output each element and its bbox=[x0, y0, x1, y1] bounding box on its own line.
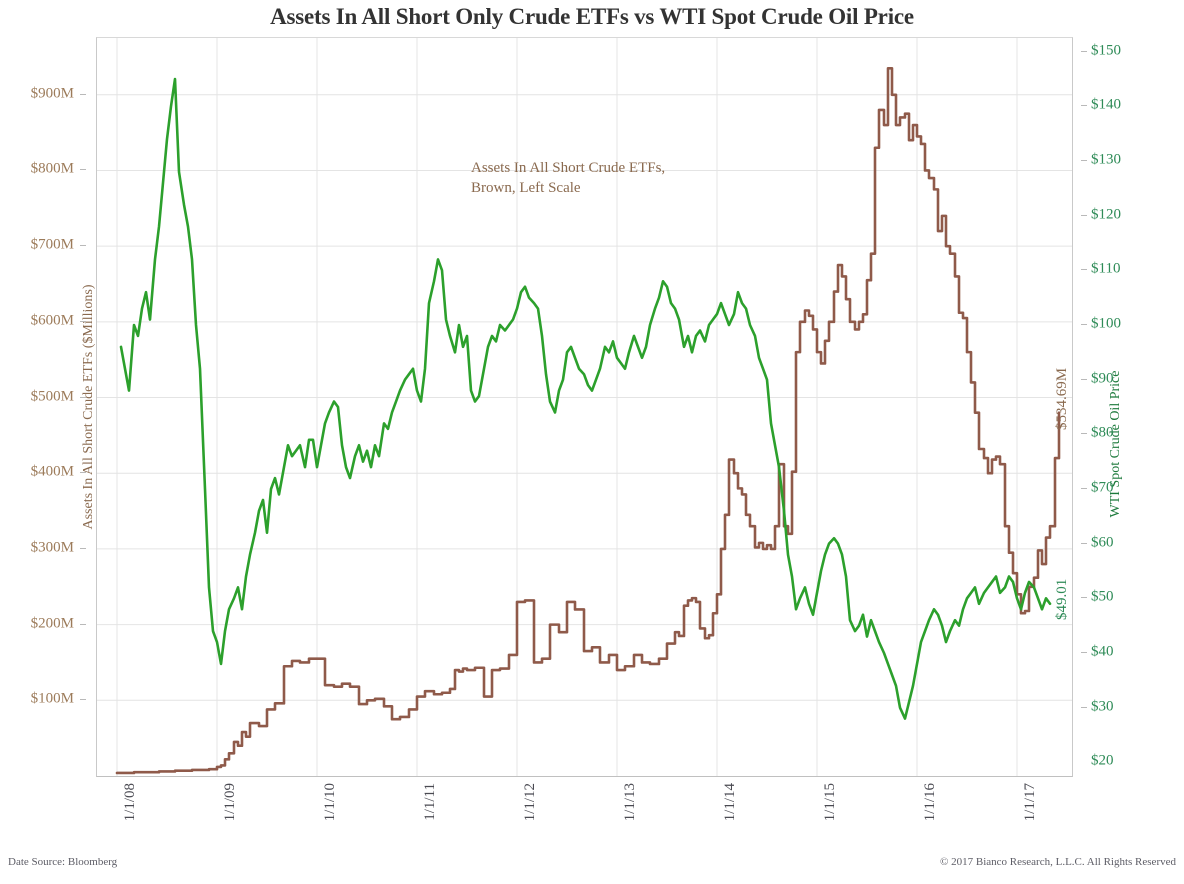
right-tick-label: $150 bbox=[1081, 42, 1121, 59]
x-tick-label: 1/1/13 bbox=[622, 783, 639, 821]
brown-series-end-label: $534.69M bbox=[1054, 368, 1071, 430]
footer-source: Date Source: Bloomberg bbox=[8, 856, 117, 868]
right-tick-mark bbox=[1081, 707, 1087, 708]
plot-area: Assets In All Short Crude ETFs ($Million… bbox=[96, 37, 1073, 777]
page-title: Assets In All Short Only Crude ETFs vs W… bbox=[0, 4, 1184, 30]
left-tick-mark bbox=[80, 548, 86, 549]
chart-root: Assets In All Short Only Crude ETFs vs W… bbox=[0, 0, 1184, 884]
annotation-line-1: Assets In All Short Crude ETFs, bbox=[471, 158, 665, 178]
left-tick-mark bbox=[80, 321, 86, 322]
left-tick-label: $400M bbox=[31, 464, 86, 481]
right-tick-mark bbox=[1081, 269, 1087, 270]
x-tick-label: 1/1/15 bbox=[822, 783, 839, 821]
right-tick-mark bbox=[1081, 105, 1087, 106]
left-tick-label: $100M bbox=[31, 691, 86, 708]
right-tick-mark bbox=[1081, 433, 1087, 434]
left-tick-label: $500M bbox=[31, 388, 86, 405]
x-tick-label: 1/1/14 bbox=[722, 783, 739, 821]
left-tick-label: $900M bbox=[31, 85, 86, 102]
footer-copyright: © 2017 Bianco Research, L.L.C. All Right… bbox=[940, 856, 1176, 868]
left-tick-mark bbox=[80, 472, 86, 473]
right-tick-mark bbox=[1081, 324, 1087, 325]
left-tick-label: $300M bbox=[31, 539, 86, 556]
right-tick-mark bbox=[1081, 597, 1087, 598]
right-tick-mark bbox=[1081, 215, 1087, 216]
x-tick-label: 1/1/09 bbox=[222, 783, 239, 821]
left-tick-mark bbox=[80, 169, 86, 170]
green-series-end-label: $49.01 bbox=[1054, 579, 1071, 620]
right-tick-label: $100 bbox=[1081, 316, 1121, 333]
left-tick-label: $200M bbox=[31, 615, 86, 632]
right-tick-mark bbox=[1081, 652, 1087, 653]
x-tick-label: 1/1/16 bbox=[922, 783, 939, 821]
x-tick-label: 1/1/08 bbox=[122, 783, 139, 821]
left-tick-label: $700M bbox=[31, 237, 86, 254]
x-tick-label: 1/1/17 bbox=[1022, 783, 1039, 821]
annotation-line-2: Brown, Left Scale bbox=[471, 178, 665, 198]
right-tick-mark bbox=[1081, 379, 1087, 380]
right-tick-label: $120 bbox=[1081, 206, 1121, 223]
right-tick-mark bbox=[1081, 488, 1087, 489]
x-tick-label: 1/1/11 bbox=[422, 783, 439, 821]
x-tick-label: 1/1/10 bbox=[322, 783, 339, 821]
footer: Date Source: Bloomberg © 2017 Bianco Res… bbox=[0, 856, 1184, 876]
left-tick-mark bbox=[80, 245, 86, 246]
right-tick-mark bbox=[1081, 51, 1087, 52]
right-tick-label: $130 bbox=[1081, 152, 1121, 169]
right-tick-mark bbox=[1081, 160, 1087, 161]
right-tick-label: $140 bbox=[1081, 97, 1121, 114]
left-tick-mark bbox=[80, 397, 86, 398]
left-tick-label: $600M bbox=[31, 312, 86, 329]
x-tick-label: 1/1/12 bbox=[522, 783, 539, 821]
left-tick-mark bbox=[80, 94, 86, 95]
series-annotation: Assets In All Short Crude ETFs, Brown, L… bbox=[471, 158, 665, 198]
left-tick-label: $800M bbox=[31, 161, 86, 178]
right-axis-ticks: $20$30$40$50$60$70$80$90$100$110$120$130… bbox=[1081, 37, 1171, 777]
right-tick-label: $20 bbox=[1081, 753, 1114, 770]
left-tick-mark bbox=[80, 624, 86, 625]
right-tick-mark bbox=[1081, 543, 1087, 544]
chart-canvas bbox=[97, 38, 1072, 776]
left-axis-ticks: $100M$200M$300M$400M$500M$600M$700M$800M… bbox=[0, 37, 86, 777]
left-tick-mark bbox=[80, 699, 86, 700]
